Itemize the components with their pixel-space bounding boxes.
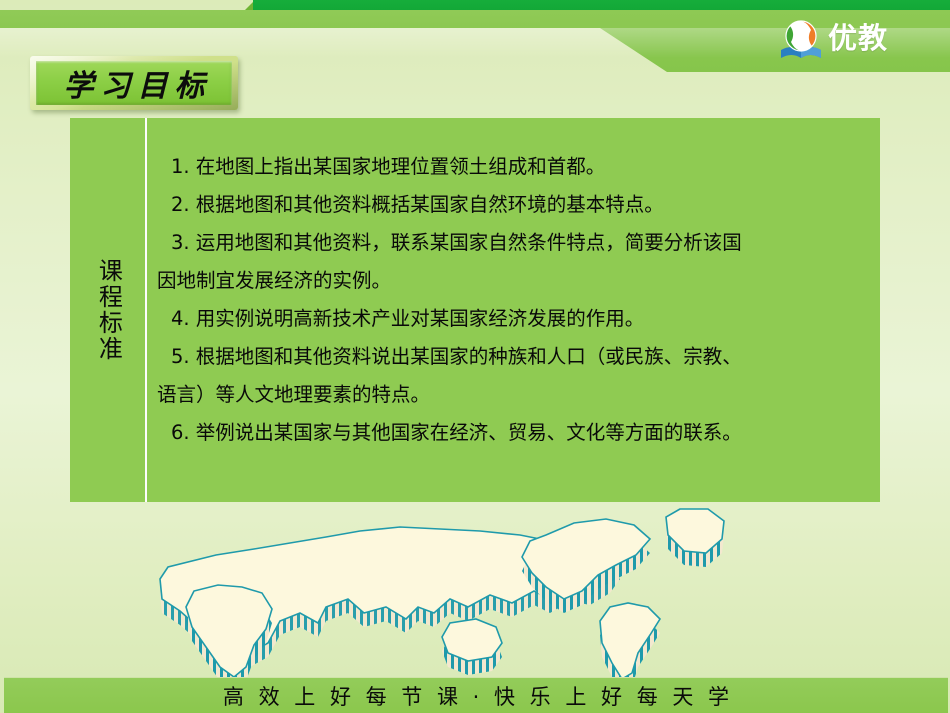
brand-logo[interactable]: 优教 <box>778 18 923 64</box>
panel-label-text: 课程标准 <box>92 258 124 362</box>
page-title: 学习目标 <box>36 61 232 105</box>
list-item: 因地制宜发展经济的实例。 <box>157 262 870 300</box>
map-greenland <box>666 509 724 567</box>
list-item: 5. 根据地图和其他资料说出某国家的种族和人口（或民族、宗教、 <box>157 338 870 376</box>
brand-logo-text: 优教 <box>828 20 888 56</box>
badge-inner: 学习目标 <box>36 61 232 105</box>
list-item: 3. 运用地图和其他资料，联系某国家自然条件特点，简要分析该国 <box>157 224 870 262</box>
footer-slogan: 高 效 上 好 每 节 课 · 快 乐 上 好 每 天 学 <box>4 678 948 713</box>
panel-label-cell: 课程标准 <box>70 118 147 502</box>
top-dark-strip <box>253 0 950 10</box>
map-australia <box>442 619 502 675</box>
objectives-list: 1. 在地图上指出某国家地理位置领土组成和首都。 2. 根据地图和其他资料概括某… <box>147 118 880 502</box>
map-africa <box>186 585 272 685</box>
list-item: 1. 在地图上指出某国家地理位置领土组成和首都。 <box>157 148 870 186</box>
footer-bar: 高 效 上 好 每 节 课 · 快 乐 上 好 每 天 学 <box>4 677 948 713</box>
world-map-decoration <box>150 495 870 685</box>
page-title-badge: 学习目标 <box>30 56 238 110</box>
objectives-panel: 课程标准 1. 在地图上指出某国家地理位置领土组成和首都。 2. 根据地图和其他… <box>70 118 880 502</box>
map-south-america <box>600 603 660 685</box>
list-item: 语言）等人文地理要素的特点。 <box>157 376 870 414</box>
list-item: 2. 根据地图和其他资料概括某国家自然环境的基本特点。 <box>157 186 870 224</box>
list-item: 6. 举例说出某国家与其他国家在经济、贸易、文化等方面的联系。 <box>157 414 870 452</box>
list-item: 4. 用实例说明高新技术产业对某国家经济发展的作用。 <box>157 300 870 338</box>
swirl-book-logo-icon <box>778 19 824 67</box>
